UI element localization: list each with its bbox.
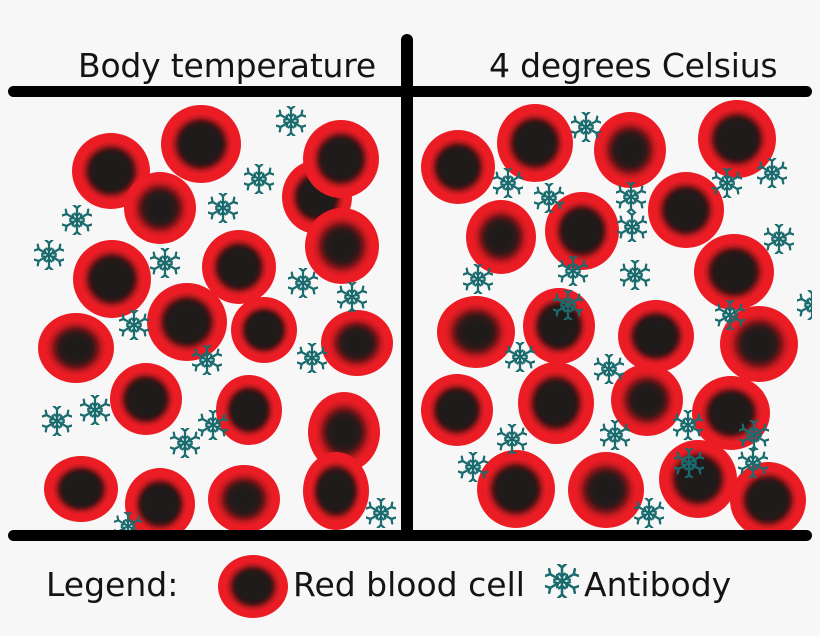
antibody-icon — [674, 448, 704, 478]
red-blood-cell — [231, 297, 297, 363]
antibody-icon — [62, 205, 92, 235]
antibody-icon — [276, 106, 306, 136]
bottom-divider-rule — [8, 530, 812, 541]
antibody-icon — [620, 260, 650, 290]
antibody-icon — [337, 282, 367, 312]
red-blood-cell — [124, 172, 196, 244]
red-blood-cell — [303, 452, 369, 530]
red-blood-cell — [518, 362, 594, 444]
antibody-icon — [764, 224, 794, 254]
antibody-icon — [114, 512, 142, 530]
antibody-icon — [208, 193, 238, 223]
antibody-icon — [150, 248, 180, 278]
legend-red-blood-cell-icon — [218, 555, 288, 618]
antibody-icon — [600, 420, 630, 450]
antibody-icon — [463, 264, 493, 294]
antibody-icon — [712, 168, 742, 198]
left-panel-title: Body temperature — [78, 46, 376, 85]
red-blood-cell — [303, 120, 379, 198]
legend-antibody-label: Antibody — [584, 565, 731, 604]
legend-red-blood-cell-label: Red blood cell — [293, 565, 525, 604]
antibody-icon — [244, 164, 274, 194]
antibody-icon — [673, 410, 703, 440]
red-blood-cell — [568, 452, 644, 528]
red-blood-cell — [421, 374, 493, 446]
antibody-icon — [119, 310, 149, 340]
antibody-icon — [715, 300, 745, 330]
antibody-icon — [288, 268, 318, 298]
antibody-icon — [534, 183, 564, 213]
antibody-icon — [617, 212, 647, 242]
red-blood-cell — [208, 465, 280, 530]
red-blood-cell — [44, 456, 118, 522]
antibody-icon — [493, 168, 523, 198]
body-temperature-panel — [8, 97, 403, 530]
antibody-icon — [553, 290, 583, 320]
antibody-icon — [366, 498, 396, 528]
four-degrees-celsius-panel — [413, 97, 812, 530]
antibody-icon — [634, 498, 664, 528]
legend-antibody-icon — [545, 564, 579, 598]
antibody-icon — [297, 343, 327, 373]
red-blood-cell — [594, 112, 666, 188]
red-blood-cell — [618, 300, 694, 372]
antibody-icon — [42, 406, 72, 436]
red-blood-cell — [421, 130, 495, 204]
red-blood-cell — [73, 240, 151, 318]
antibody-icon — [757, 158, 787, 188]
antibody-icon — [738, 448, 768, 478]
antibody-icon — [34, 240, 64, 270]
red-blood-cell — [38, 313, 114, 383]
red-blood-cell — [466, 200, 536, 274]
red-blood-cell — [477, 450, 555, 528]
red-blood-cell — [694, 234, 774, 310]
diagram-canvas: Body temperature 4 degrees Celsius — [0, 0, 820, 636]
red-blood-cell — [110, 363, 182, 435]
legend: Legend: Red blood cell Antibody — [0, 541, 820, 636]
antibody-icon — [458, 452, 488, 482]
red-blood-cell — [321, 310, 393, 376]
antibody-icon — [170, 428, 200, 458]
right-panel-title: 4 degrees Celsius — [489, 46, 777, 85]
antibody-icon — [505, 342, 535, 372]
antibody-icon — [198, 410, 228, 440]
legend-label: Legend: — [46, 565, 178, 604]
antibody-icon — [797, 290, 812, 320]
red-blood-cell — [161, 105, 241, 183]
antibody-icon — [497, 424, 527, 454]
antibody-icon — [80, 395, 110, 425]
antibody-icon — [594, 354, 624, 384]
antibody-icon — [558, 256, 588, 286]
antibody-icon — [739, 420, 769, 450]
antibody-icon — [571, 112, 601, 142]
antibody-icon — [616, 182, 646, 212]
red-blood-cell — [437, 296, 515, 368]
antibody-icon — [192, 345, 222, 375]
